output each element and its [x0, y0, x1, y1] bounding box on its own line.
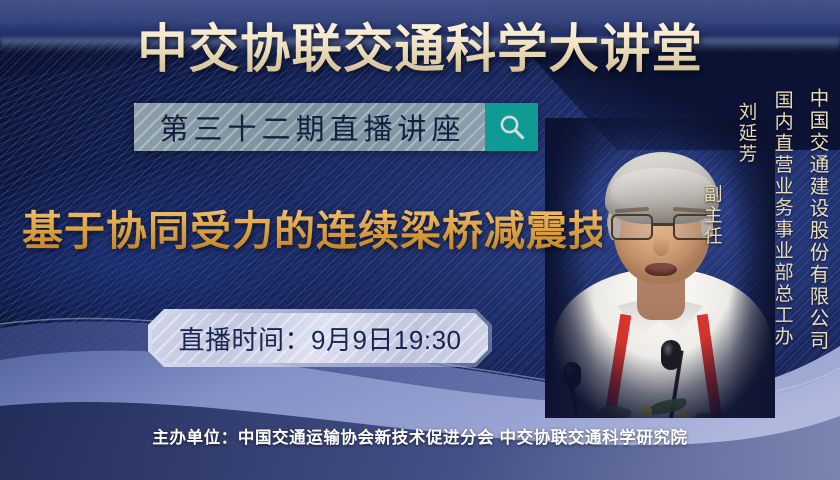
speaker-nose: [653, 236, 669, 256]
search-icon-button[interactable]: [485, 103, 538, 151]
speaker-title: 副主任: [694, 184, 729, 247]
session-bar-label: 第三十二期直播讲座: [159, 106, 465, 148]
microphone-head-right: [661, 340, 681, 370]
speaker-credit: 中国交通建设股份有限公司 国内直营业务事业部总工办 刘延芳 副主任: [694, 88, 834, 352]
search-icon: [497, 112, 527, 142]
webinar-poster: 中交协联交通科学大讲堂 第三十二期直播讲座 基于协同受力的连续梁桥减震技术 直播…: [0, 0, 840, 480]
organizer-footer: 主办单位：中国交通运输协会新技术促进分会 中交协联交通科学研究院: [0, 424, 840, 448]
microphone-head-left: [563, 362, 581, 388]
lecture-headline: 基于协同受力的连续梁桥减震技术: [22, 206, 602, 256]
broadcast-time-badge: 直播时间：9月9日19:30: [148, 309, 492, 367]
speaker-company: 中国交通建设股份有限公司: [799, 88, 834, 352]
page-title: 中交协联交通科学大讲堂: [13, 20, 828, 80]
speaker-name: 刘延芳: [729, 102, 764, 165]
session-bar: 第三十二期直播讲座: [134, 103, 538, 151]
podium-flowers: [545, 390, 775, 418]
broadcast-time-label: 直播时间：9月9日19:30: [179, 320, 462, 357]
broadcast-time-badge-inner: 直播时间：9月9日19:30: [152, 313, 488, 363]
glasses-bridge: [653, 223, 673, 226]
speaker-mouth: [645, 263, 677, 276]
session-bar-label-box: 第三十二期直播讲座: [134, 103, 485, 151]
speaker-department: 国内直营业务事业部总工办: [764, 90, 799, 348]
